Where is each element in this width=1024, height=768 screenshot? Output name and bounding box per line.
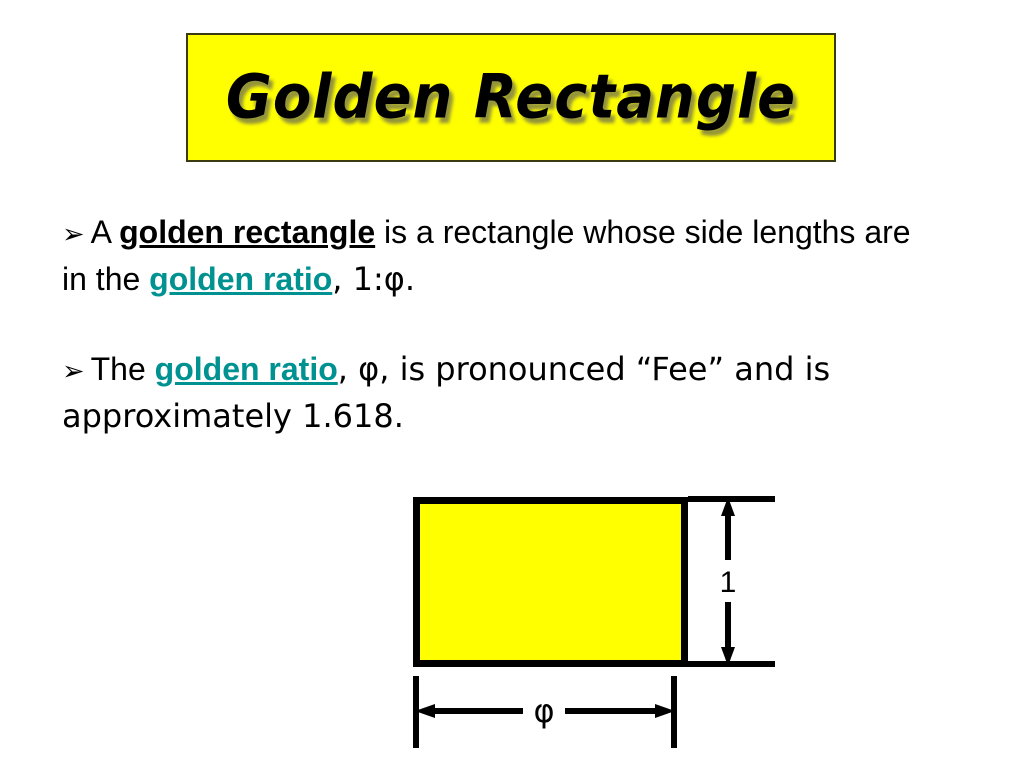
height-dimension-label: 1: [720, 566, 737, 599]
bullet-paragraph-1: ➢A golden rectangle is a rectangle whose…: [62, 210, 942, 301]
golden-rectangle-shape: [417, 501, 685, 664]
arrow-bullet-icon: ➢: [62, 219, 85, 250]
arrow-bullet-icon: ➢: [62, 356, 85, 387]
title-banner: Golden Rectangle: [186, 33, 836, 162]
bullet-1-ratio-notation: , 1:φ.: [332, 260, 415, 298]
page-title: Golden Rectangle: [226, 67, 796, 127]
bullet-2-segment-1: The: [91, 351, 155, 387]
width-dimension-label: φ: [533, 692, 554, 730]
golden-rectangle-diagram: 1 φ: [395, 480, 795, 765]
slide-canvas: Golden Rectangle ➢A golden rectangle is …: [0, 0, 1024, 768]
bullet-1-segment-1: A: [91, 214, 119, 250]
bullet-1-link-golden-ratio[interactable]: golden ratio: [149, 261, 332, 297]
bullet-paragraph-2: ➢The golden ratio, φ, is pronounced “Fee…: [62, 347, 942, 438]
bullet-2-link-golden-ratio[interactable]: golden ratio: [155, 351, 338, 387]
bullet-1-term-golden-rectangle: golden rectangle: [119, 214, 375, 250]
